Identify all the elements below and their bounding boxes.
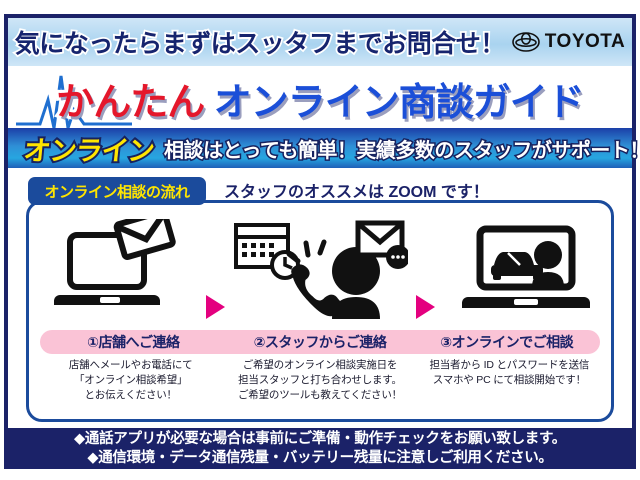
step-3-description: 担当者から ID とパスワードを送信 スマホや PC にて相談開始です！ <box>415 358 604 416</box>
step-3-label: ③オンラインでご相談 <box>413 332 600 352</box>
flow-icons-row <box>30 208 610 326</box>
toyota-online-consultation-banner: 気になったらまずはスッタフまでお問合せ！ TOYOTA かんたん オンライン商談… <box>0 0 640 480</box>
step-2-line-2: 担当スタッフと打ち合わせします。 <box>225 373 414 388</box>
step-label-bar: ①店舗へご連絡 ②スタッフからご連絡 ③オンラインでご相談 <box>40 330 600 354</box>
step-2-line-3: ご希望のツールも教えてください！ <box>225 388 414 403</box>
subtitle-band: オンライン 相談はとっても簡単！実績多数のスタッフがサポート！ <box>8 128 632 168</box>
person-on-screen-icon <box>532 241 564 287</box>
step-2-description: ご希望のオンライン相談実施日を 担当スタッフと打ち合わせします。 ご希望のツール… <box>225 358 414 416</box>
step-2-label: ②スタッフからご連絡 <box>227 332 414 352</box>
right-triangle-arrow-icon <box>204 294 226 320</box>
toyota-ellipse-logo-icon <box>512 32 540 52</box>
right-triangle-arrow-icon <box>414 294 436 320</box>
calendar-clock-icon <box>236 225 298 278</box>
step-1-icons <box>30 208 198 326</box>
step-1-label: ①店舗へご連絡 <box>40 332 227 352</box>
subtitle-highlight: オンライン <box>22 129 156 168</box>
step-1-line-3: とお伝えください！ <box>36 388 225 403</box>
header-bar: 気になったらまずはスッタフまでお問合せ！ TOYOTA <box>8 18 632 66</box>
step-descriptions: 店舗へメールやお電話にて 「オンライン相談希望」 とお伝えください！ ご希望のオ… <box>36 358 604 416</box>
arrow-2-cell <box>408 208 442 326</box>
laptop-envelope-icon-group <box>50 219 178 315</box>
step-1-line-2: 「オンライン相談希望」 <box>36 373 225 388</box>
toyota-wordmark: TOYOTA <box>545 31 625 53</box>
person-icon <box>332 247 380 319</box>
footer-notes: ◆通話アプリが必要な場合は事前にご準備・動作チェックをお願い致します。 ◆通信環… <box>8 428 632 469</box>
step-1-description: 店舗へメールやお電話にて 「オンライン相談希望」 とお伝えください！ <box>36 358 225 416</box>
header-headline: 気になったらまずはスッタフまでお問合せ！ <box>15 24 505 60</box>
arrow-1-cell <box>198 208 232 326</box>
toyota-logo-lockup: TOYOTA <box>512 31 625 53</box>
laptop-car-person-icon-group <box>460 219 592 315</box>
zoom-recommendation-note: スタッフのオススメは ZOOM です！ <box>224 178 489 202</box>
flow-tab: オンライン相談の流れ <box>28 177 206 205</box>
step-2-icons <box>232 208 408 326</box>
step-1-line-1: 店舗へメールやお電話にて <box>36 358 225 373</box>
footer-note-2: ◆通信環境・データ通信残量・バッテリー残量に注意しご利用ください。 <box>87 449 552 468</box>
subtitle-text: 相談はとっても簡単！実績多数のスタッフがサポート！ <box>164 134 640 163</box>
title-part-blue: オンライン商談ガイド <box>214 82 584 124</box>
flow-tab-label: オンライン相談の流れ <box>44 181 189 202</box>
step-3-line-1: 担当者から ID とパスワードを送信 <box>415 358 604 373</box>
step-3-line-2: スマホや PC にて相談開始です！ <box>415 373 604 388</box>
step-2-line-1: ご希望のオンライン相談実施日を <box>225 358 414 373</box>
footer-note-1: ◆通話アプリが必要な場合は事前にご準備・動作チェックをお願い致します。 <box>74 430 566 449</box>
title-part-red: かんたん <box>56 82 204 124</box>
step-3-icons <box>442 208 610 326</box>
main-title: かんたん オンライン商談ガイド <box>0 70 640 126</box>
calendar-phone-person-icon-group <box>232 215 408 319</box>
envelope-icon <box>116 219 173 258</box>
